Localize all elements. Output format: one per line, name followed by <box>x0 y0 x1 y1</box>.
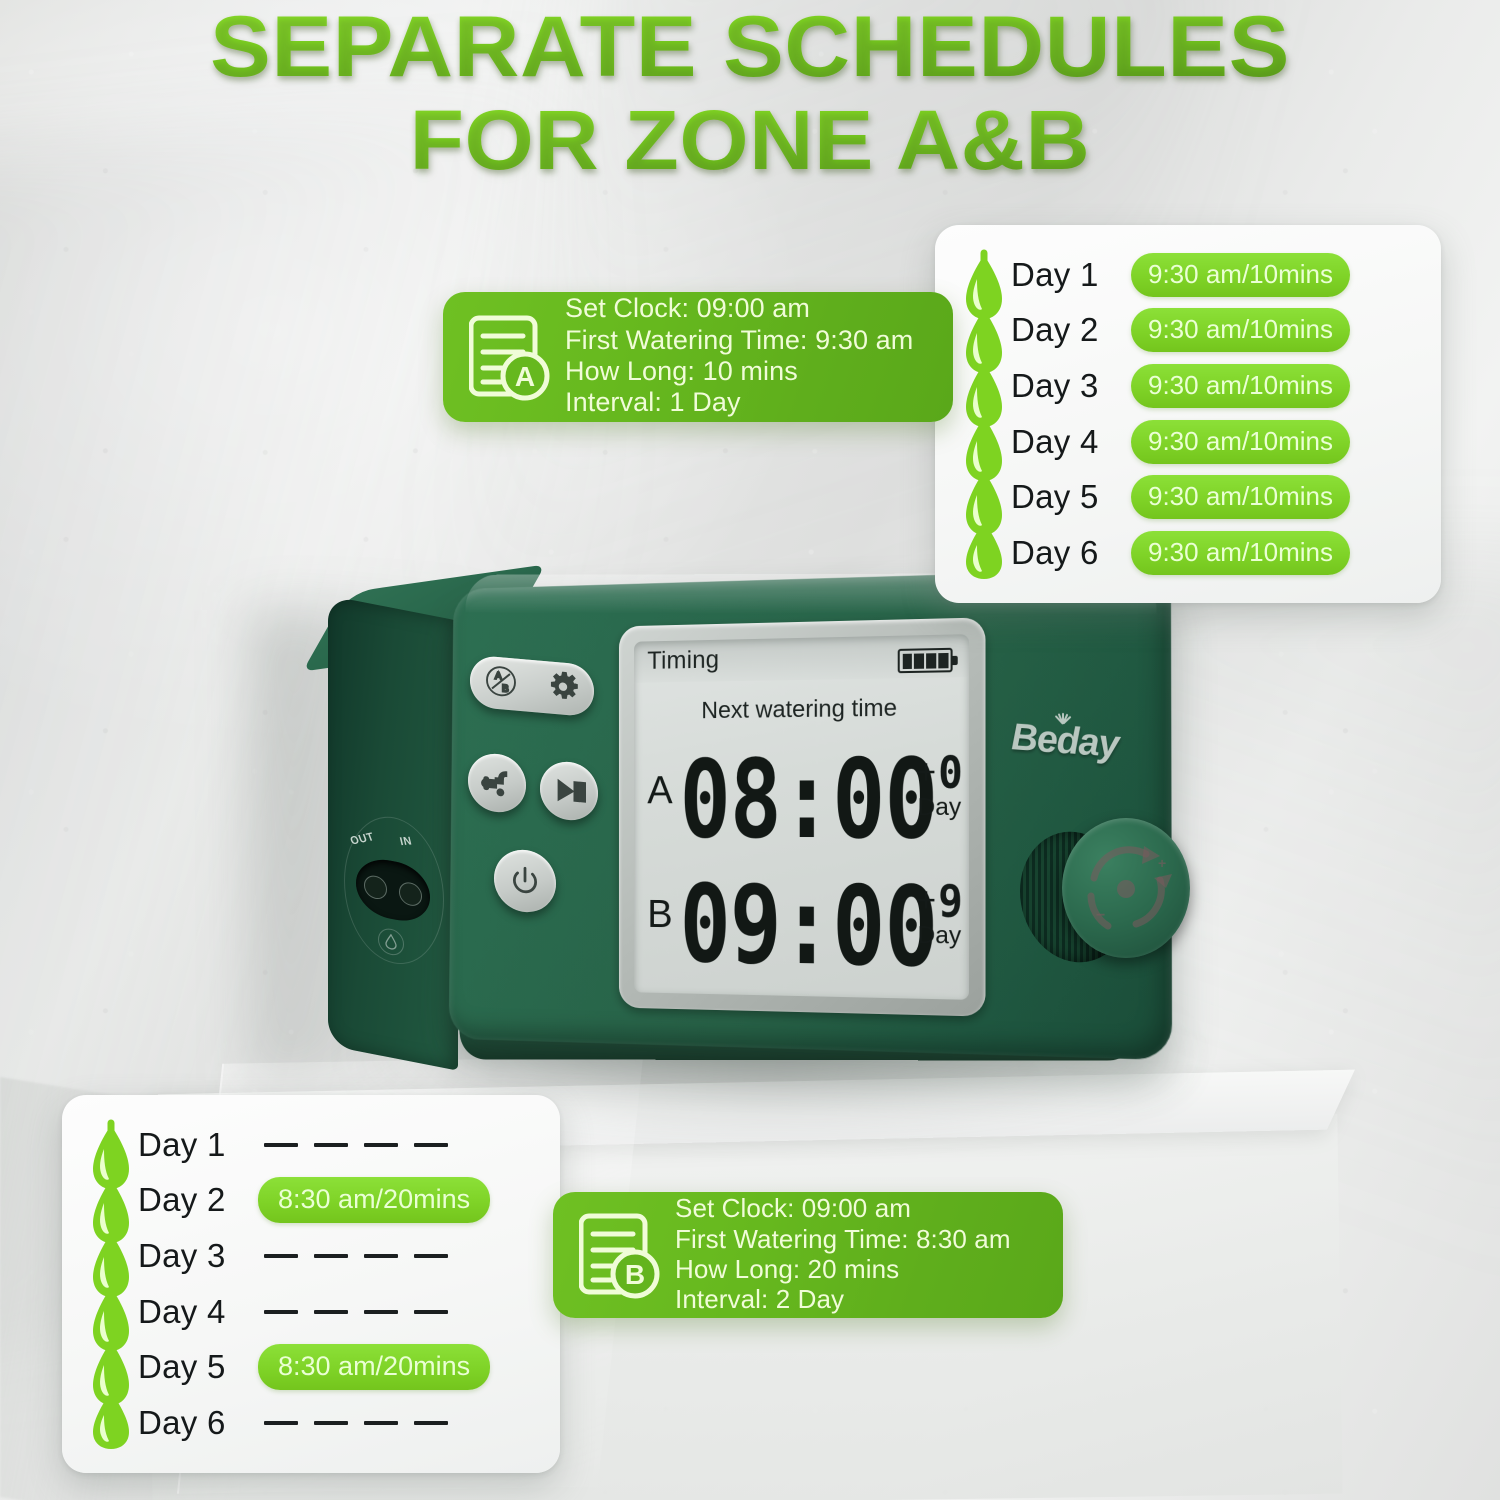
empty-schedule-dashes <box>258 1143 448 1147</box>
knob-face[interactable]: + − <box>1062 818 1190 958</box>
empty-schedule-dashes <box>258 1310 448 1314</box>
lcd-day-offset-a: + 0 Day <box>916 755 963 822</box>
plus-sign: + <box>916 883 936 918</box>
lcd-time-zone-a: 08:00 <box>680 737 938 864</box>
manual-watering-button[interactable] <box>468 751 526 814</box>
schedule-row: Day 2 8:30 am/20mins <box>138 1174 538 1226</box>
info-line-first-time: First Watering Time: 9:30 am <box>565 325 931 356</box>
knob-minus-label: − <box>1096 907 1105 924</box>
info-line-interval: Interval: 2 Day <box>675 1284 1041 1314</box>
lcd-day-offset-b: + 9 Day <box>916 883 963 951</box>
play-pause-button[interactable] <box>540 759 598 822</box>
schedule-rows-zone-a: Day 1 9:30 am/10mins Day 2 9:30 am/10min… <box>1011 241 1419 587</box>
document-b-icon: B <box>573 1208 669 1300</box>
schedule-row: Day 4 <box>138 1286 538 1338</box>
info-line-first-time: First Watering Time: 8:30 am <box>675 1224 1041 1254</box>
info-card-zone-a: A Set Clock: 09:00 am First Watering Tim… <box>443 292 953 422</box>
info-card-zone-b: B Set Clock: 09:00 am First Watering Tim… <box>553 1192 1063 1318</box>
day-label: Day 5 <box>1011 478 1131 516</box>
day-offset-value: 0 <box>938 753 963 793</box>
schedule-card-zone-a: Day 1 9:30 am/10mins Day 2 9:30 am/10min… <box>935 225 1441 603</box>
info-line-how-long: How Long: 10 mins <box>565 356 931 387</box>
day-label: Day 6 <box>1011 534 1131 572</box>
svg-text:B: B <box>502 683 509 695</box>
day-offset-value: 9 <box>938 881 963 922</box>
zone-and-settings-pill[interactable]: A B <box>470 655 594 718</box>
schedule-row: Day 6 9:30 am/10mins <box>1011 527 1419 579</box>
day-label: Day 2 <box>1011 311 1131 349</box>
knob-plus-label: + <box>1158 855 1166 871</box>
schedule-pill: 9:30 am/10mins <box>1131 364 1350 408</box>
day-label: Day 2 <box>138 1181 258 1219</box>
schedule-card-zone-b: Day 1 Day 2 8:30 am/20mins Day 3 Day 4 D… <box>62 1095 560 1473</box>
brand-logo: Beday <box>1011 716 1118 767</box>
schedule-rows-zone-b: Day 1 Day 2 8:30 am/20mins Day 3 Day 4 D… <box>138 1111 538 1457</box>
info-line-set-clock: Set Clock: 09:00 am <box>675 1193 1041 1223</box>
schedule-pill: 9:30 am/10mins <box>1131 420 1350 464</box>
day-label: Day 1 <box>1011 256 1131 294</box>
day-label: Day 4 <box>1011 423 1131 461</box>
day-label: Day 3 <box>1011 367 1131 405</box>
settings-gear-button[interactable] <box>546 668 580 710</box>
lcd-zone-letter: A <box>647 771 672 810</box>
schedule-row: Day 1 9:30 am/10mins <box>1011 249 1419 301</box>
svg-text:A: A <box>495 670 502 682</box>
lcd-bezel: Timing Next watering time A 08:00 + 0 Da… <box>619 617 986 1016</box>
info-line-how-long: How Long: 20 mins <box>675 1254 1041 1284</box>
info-lines-zone-b: Set Clock: 09:00 am First Watering Time:… <box>669 1193 1041 1314</box>
schedule-row: Day 3 <box>138 1230 538 1282</box>
schedule-pill: 8:30 am/20mins <box>258 1344 490 1390</box>
schedule-row: Day 4 9:30 am/10mins <box>1011 416 1419 468</box>
lcd-zone-letter: B <box>647 895 672 935</box>
document-a-icon: A <box>463 310 559 402</box>
info-line-set-clock: Set Clock: 09:00 am <box>565 293 931 324</box>
zone-ab-button[interactable]: A B <box>484 662 518 704</box>
day-label: Day 5 <box>138 1348 258 1386</box>
empty-schedule-dashes <box>258 1254 448 1258</box>
irrigation-timer-device: OUT IN A B <box>320 560 1200 1100</box>
power-button[interactable] <box>494 847 556 914</box>
lcd-row-zone-a: A 08:00 + 0 Day <box>634 732 969 861</box>
schedule-row: Day 6 <box>138 1397 538 1449</box>
day-label: Day 3 <box>138 1237 258 1275</box>
schedule-pill: 9:30 am/10mins <box>1131 253 1350 297</box>
headline: SEPARATE SCHEDULES FOR ZONE A&B <box>0 4 1500 183</box>
vine-leaf-icon <box>84 1119 138 1449</box>
schedule-row: Day 5 8:30 am/20mins <box>138 1341 538 1393</box>
schedule-pill: 9:30 am/10mins <box>1131 308 1350 352</box>
day-label: Day 6 <box>138 1404 258 1442</box>
zone-badge-b: B <box>625 1259 645 1290</box>
schedule-pill: 9:30 am/10mins <box>1131 475 1350 519</box>
lcd-mode-label: Timing <box>647 646 719 676</box>
day-label: Day 4 <box>138 1293 258 1331</box>
schedule-row: Day 3 9:30 am/10mins <box>1011 360 1419 412</box>
schedule-row: Day 1 <box>138 1119 538 1171</box>
lcd-row-zone-b: B 09:00 + 9 Day <box>634 859 969 990</box>
day-label: Day 1 <box>138 1126 258 1164</box>
marketing-image: SEPARATE SCHEDULES FOR ZONE A&B <box>0 0 1500 1500</box>
headline-line-2: FOR ZONE A&B <box>0 98 1500 184</box>
sunburst-icon <box>1048 703 1078 725</box>
vine-leaf-icon <box>957 249 1011 579</box>
adjustment-knob[interactable]: + − <box>1020 810 1170 990</box>
battery-icon <box>898 648 953 673</box>
schedule-pill: 8:30 am/20mins <box>258 1177 490 1223</box>
headline-line-1: SEPARATE SCHEDULES <box>0 4 1500 92</box>
lcd-time-zone-b: 09:00 <box>680 863 938 992</box>
schedule-row: Day 5 9:30 am/10mins <box>1011 471 1419 523</box>
lcd-subtitle: Next watering time <box>634 693 969 726</box>
zone-badge-a: A <box>515 361 535 392</box>
lcd-screen: Timing Next watering time A 08:00 + 0 Da… <box>634 634 969 1000</box>
schedule-pill: 9:30 am/10mins <box>1131 531 1350 575</box>
info-lines-zone-a: Set Clock: 09:00 am First Watering Time:… <box>559 293 931 419</box>
empty-schedule-dashes <box>258 1421 448 1425</box>
hose-ports: OUT IN <box>342 807 452 978</box>
info-line-interval: Interval: 1 Day <box>565 387 931 418</box>
plus-sign: + <box>916 755 936 790</box>
schedule-row: Day 2 9:30 am/10mins <box>1011 304 1419 356</box>
